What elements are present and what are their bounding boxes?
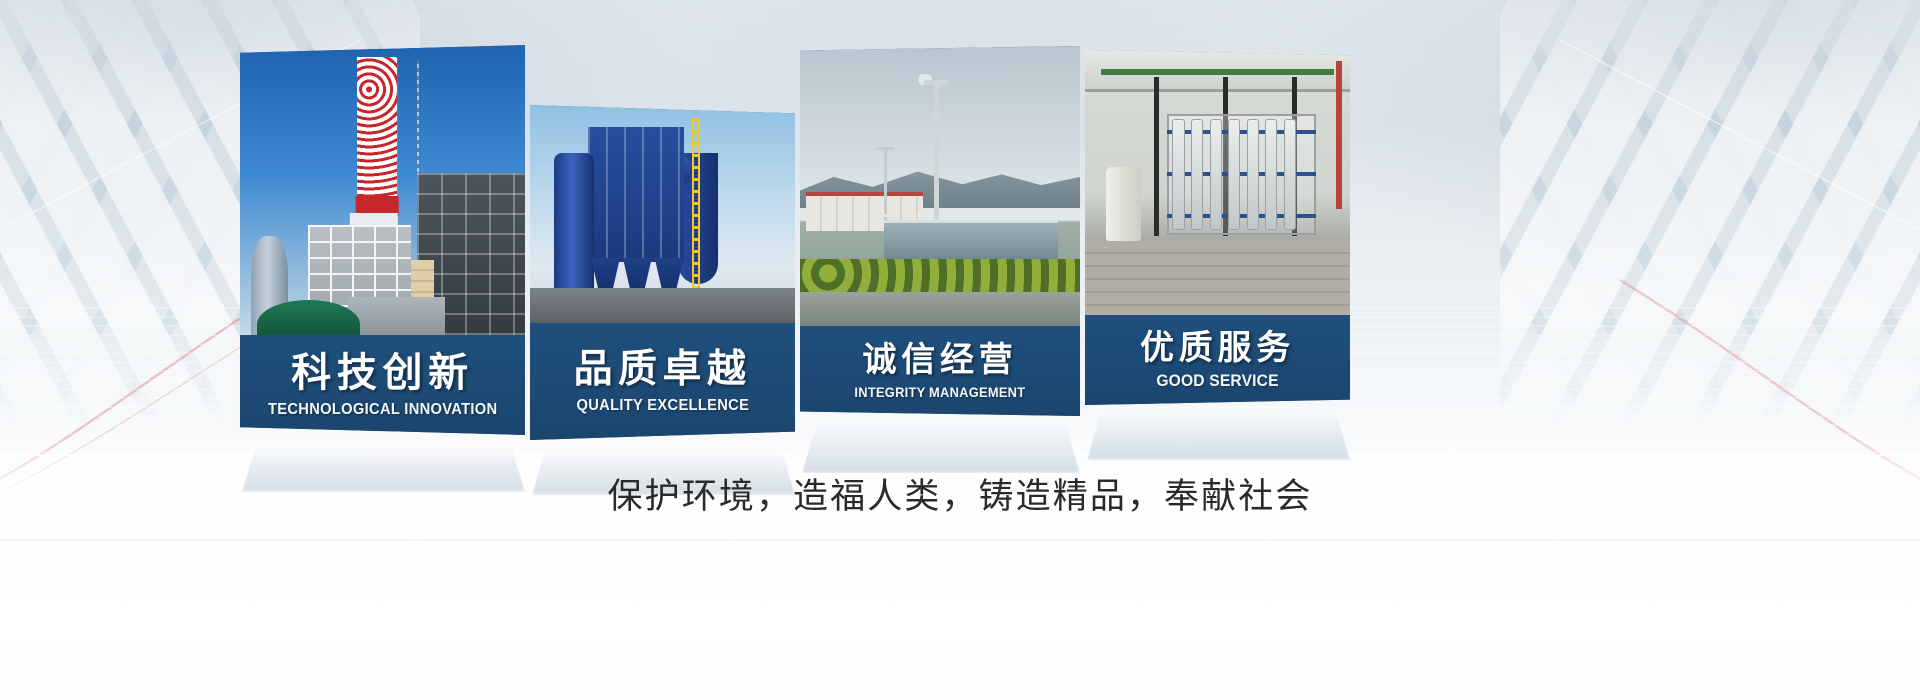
company-values-banner: 科技创新 TECHNOLOGICAL INNOVATION	[0, 0, 1920, 700]
card-title-en: INTEGRITY MANAGEMENT	[855, 385, 1026, 399]
card-title-cn: 优质服务	[1140, 331, 1295, 365]
blue-dust-collector-photo	[530, 105, 795, 323]
card-caption-plate: 优质服务 GOOD SERVICE	[1085, 315, 1350, 405]
card-caption-plate: 品质卓越 QUALITY EXCELLENCE	[530, 323, 795, 440]
ro-membrane-skid-photo	[1085, 50, 1350, 315]
wastewater-treatment-plant-photo	[800, 46, 1080, 326]
card-caption-plate: 诚信经营 INTEGRITY MANAGEMENT	[800, 326, 1080, 416]
power-plant-chimney-photo	[240, 45, 525, 335]
card-title-cn: 诚信经营	[862, 343, 1017, 377]
banner-tagline: 保护环境，造福人类，铸造精品，奉献社会	[0, 468, 1920, 519]
card-caption-plate: 科技创新 TECHNOLOGICAL INNOVATION	[240, 335, 525, 435]
value-card-good-service[interactable]: 优质服务 GOOD SERVICE	[1085, 50, 1350, 405]
value-card-technological-innovation[interactable]: 科技创新 TECHNOLOGICAL INNOVATION	[240, 45, 525, 435]
value-card-list: 科技创新 TECHNOLOGICAL INNOVATION	[0, 0, 1920, 700]
value-card-integrity-management[interactable]: 诚信经营 INTEGRITY MANAGEMENT	[800, 46, 1080, 416]
card-title-cn: 品质卓越	[574, 350, 752, 389]
card-title-en: GOOD SERVICE	[1156, 372, 1278, 389]
card-title-en: TECHNOLOGICAL INNOVATION	[268, 402, 498, 418]
card-title-en: QUALITY EXCELLENCE	[576, 398, 749, 414]
card-title-cn: 科技创新	[291, 353, 473, 393]
value-card-quality-excellence[interactable]: 品质卓越 QUALITY EXCELLENCE	[530, 105, 795, 440]
